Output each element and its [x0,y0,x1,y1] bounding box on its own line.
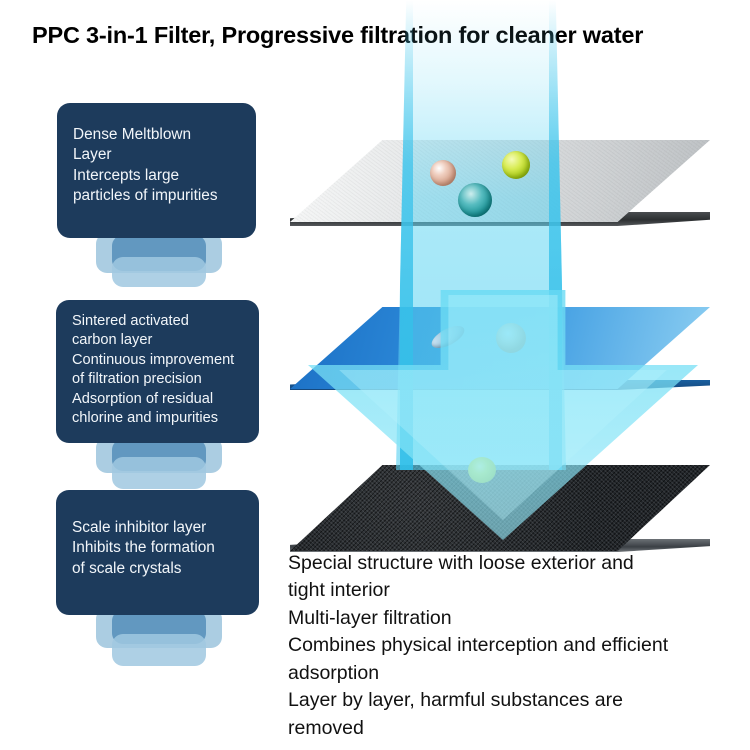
particle-green-impurity [502,151,530,179]
description-line-7: removed [288,715,740,742]
description-line-4: Combines physical interception and effic… [288,632,740,659]
callout-2-line-6: chlorine and impurities [72,409,243,428]
connector-below-layer-3 [84,608,234,680]
callout-3-line-3: of scale crystals [72,559,243,579]
callout-2-line-3: Continuous improvement [72,351,243,370]
description-text-block: Special structure with loose exterior an… [288,550,740,742]
particle-tan-impurity [430,160,456,186]
connector-bar-narrow [112,257,206,287]
callout-3-line-1: Scale inhibitor layer [72,518,243,538]
callout-2-line-4: of filtration precision [72,370,243,389]
connector-bar-narrow [112,634,206,666]
particle-teal-impurity [458,183,492,217]
infographic-page: PPC 3-in-1 Filter, Progressive filtratio… [0,0,750,750]
page-title: PPC 3-in-1 Filter, Progressive filtratio… [32,22,732,49]
callout-1-line-3: Intercepts large [73,166,240,186]
callout-2-line-1: Sintered activated [72,312,243,331]
description-line-5: adsorption [288,660,740,687]
callout-3-line-2: Inhibits the formation [72,538,243,558]
callout-scale-inhibitor-layer: Scale inhibitor layer Inhibits the forma… [56,490,259,615]
connector-between-layer-1-and-2 [84,233,234,305]
connector-bar-narrow [112,457,206,489]
description-line-3: Multi-layer filtration [288,605,740,632]
callout-1-line-4: particles of impurities [73,186,240,206]
callout-2-line-2: carbon layer [72,331,243,350]
callout-1-line-2: Layer [73,145,240,165]
callout-sintered-activated-carbon-layer: Sintered activated carbon layer Continuo… [56,300,259,443]
description-line-6: Layer by layer, harmful substances are [288,687,740,714]
description-line-1: Special structure with loose exterior an… [288,550,740,577]
callout-dense-meltblown-layer: Dense Meltblown Layer Intercepts large p… [57,103,256,238]
callout-1-line-1: Dense Meltblown [73,125,240,145]
callout-2-line-5: Adsorption of residual [72,390,243,409]
filter-layers-illustration [278,55,750,555]
description-line-2: tight interior [288,577,740,604]
